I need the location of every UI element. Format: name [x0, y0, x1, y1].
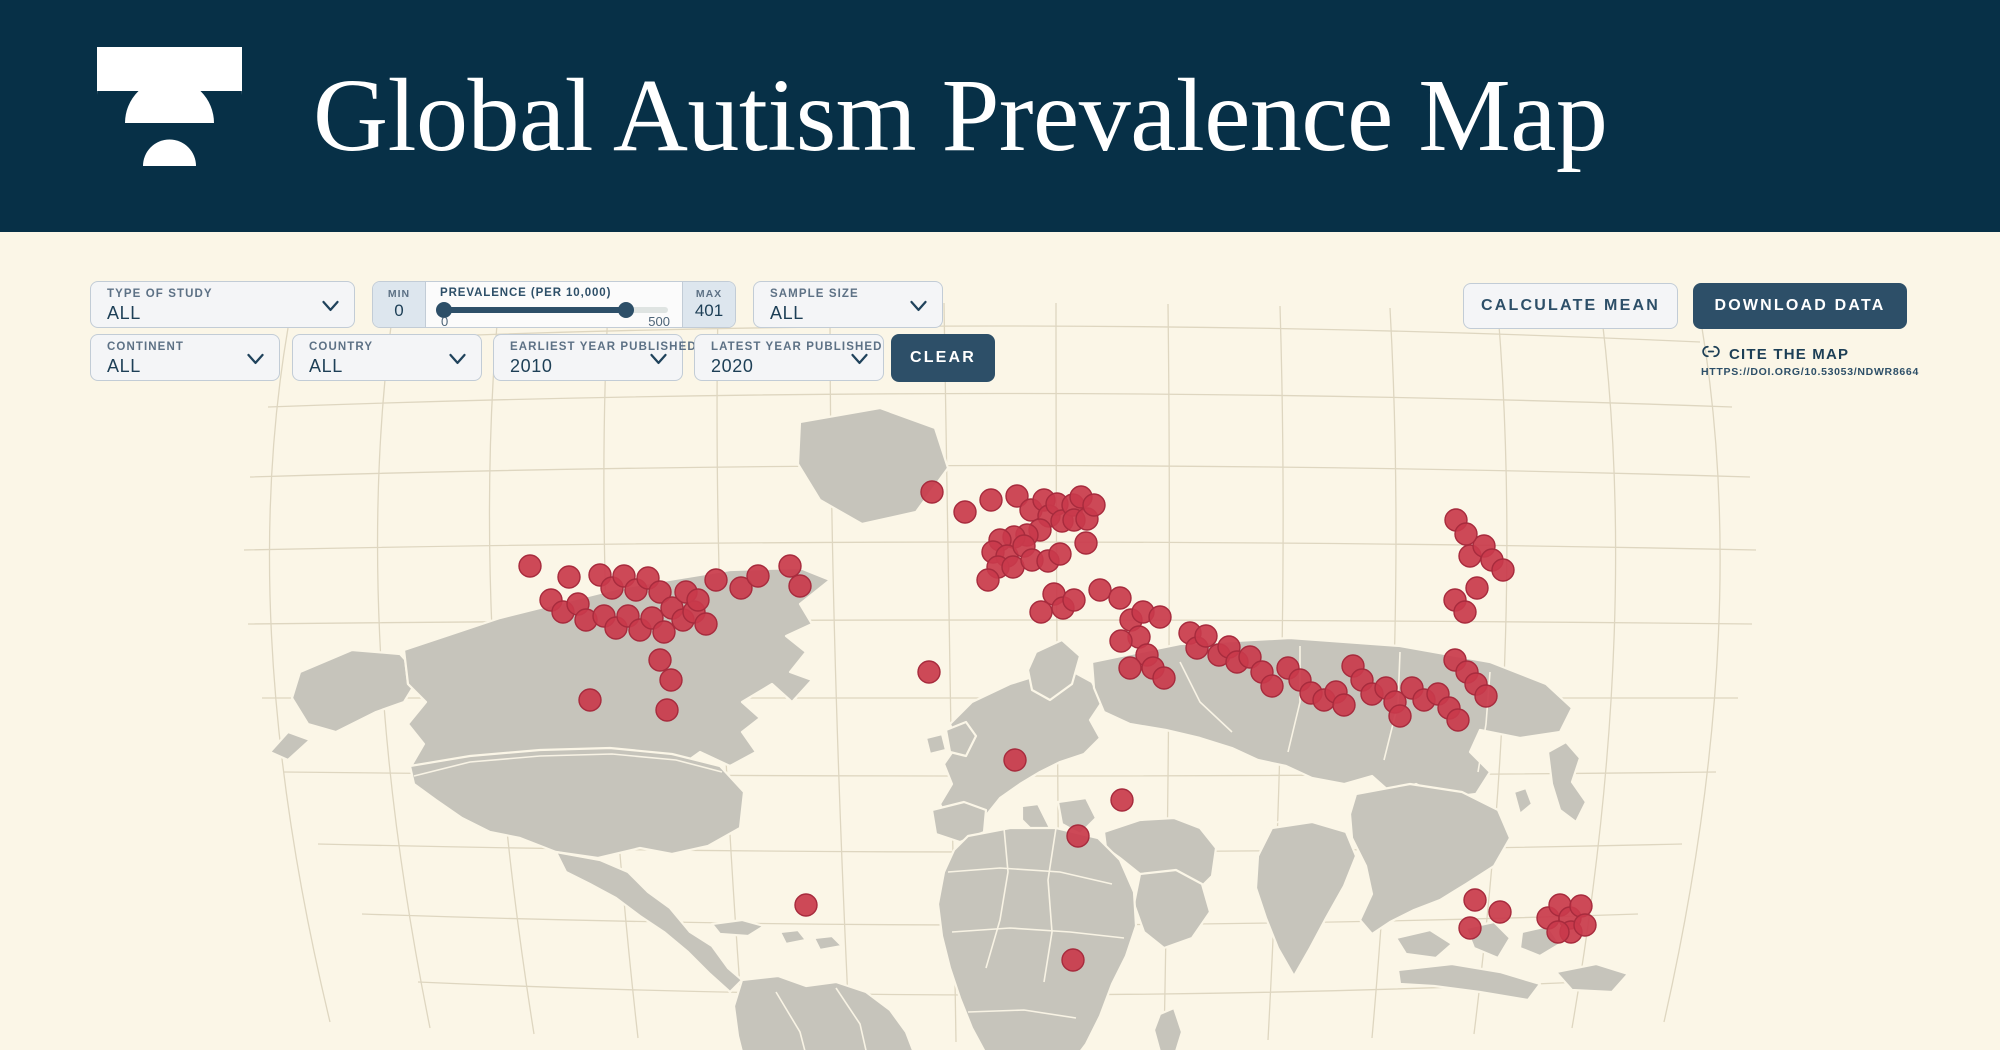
map-marker[interactable] — [649, 649, 671, 671]
map-marker[interactable] — [1153, 667, 1175, 689]
filter-sample-size[interactable]: SAMPLE SIZE ALL — [753, 281, 943, 328]
signal-ripple-logo-icon — [97, 47, 242, 185]
map-marker[interactable] — [1389, 705, 1411, 727]
map-marker[interactable] — [747, 565, 769, 587]
map-marker[interactable] — [954, 501, 976, 523]
map-marker[interactable] — [1466, 577, 1488, 599]
map-marker[interactable] — [1111, 789, 1133, 811]
filter-continent-value: ALL — [107, 356, 141, 377]
map-marker[interactable] — [1195, 625, 1217, 647]
prevalence-min-label: MIN — [388, 288, 410, 300]
map-marker[interactable] — [1049, 543, 1071, 565]
prevalence-min-value: 0 — [394, 301, 403, 321]
slider-fill — [440, 307, 626, 313]
prevalence-slider-title: PREVALENCE (PER 10,000) — [440, 287, 611, 299]
map-marker[interactable] — [1063, 589, 1085, 611]
slider-scale-min: 0 — [441, 314, 448, 328]
map-marker[interactable] — [558, 566, 580, 588]
cite-the-map-label: CITE THE MAP — [1729, 346, 1849, 363]
chevron-down-icon[interactable] — [908, 295, 929, 316]
chevron-down-icon[interactable] — [447, 348, 468, 369]
cite-the-map-doi[interactable]: HTTPS://DOI.ORG/10.53053/NDWR8664 — [1701, 366, 1910, 378]
page-title: Global Autism Prevalence Map — [313, 42, 1607, 190]
chevron-down-icon[interactable] — [849, 348, 870, 369]
filter-country-value: ALL — [309, 356, 343, 377]
map-marker[interactable] — [1475, 685, 1497, 707]
map-marker[interactable] — [1459, 917, 1481, 939]
map-marker[interactable] — [1110, 630, 1132, 652]
map-marker[interactable] — [1489, 901, 1511, 923]
filter-continent[interactable]: CONTINENT ALL — [90, 334, 280, 381]
map-marker[interactable] — [687, 589, 709, 611]
map-marker[interactable] — [789, 575, 811, 597]
map-marker[interactable] — [1109, 587, 1131, 609]
prevalence-max-box[interactable]: MAX 401 — [683, 282, 735, 327]
map-marker[interactable] — [1333, 694, 1355, 716]
map-marker[interactable] — [1119, 657, 1141, 679]
map-marker[interactable] — [1570, 895, 1592, 917]
map-marker[interactable] — [519, 555, 541, 577]
map-marker[interactable] — [705, 569, 727, 591]
map-marker[interactable] — [656, 699, 678, 721]
map-marker[interactable] — [921, 481, 943, 503]
chevron-down-icon[interactable] — [320, 295, 341, 316]
slider-scale-max: 500 — [648, 314, 670, 328]
map-marker[interactable] — [653, 621, 675, 643]
map-marker[interactable] — [1149, 606, 1171, 628]
clear-filters-button[interactable]: CLEAR — [891, 334, 995, 382]
filter-type-of-study-label: TYPE OF STUDY — [107, 288, 213, 300]
map-marker[interactable] — [1083, 494, 1105, 516]
map-marker[interactable] — [1075, 532, 1097, 554]
map-marker[interactable] — [1089, 579, 1111, 601]
chevron-down-icon[interactable] — [648, 348, 669, 369]
filter-latest-year-value: 2020 — [711, 356, 753, 377]
map-marker[interactable] — [1547, 921, 1569, 943]
prevalence-slider[interactable]: PREVALENCE (PER 10,000) 0 500 — [425, 282, 683, 327]
map-marker[interactable] — [660, 669, 682, 691]
map-marker[interactable] — [1004, 749, 1026, 771]
filter-earliest-year[interactable]: EARLIEST YEAR PUBLISHED 2010 — [493, 334, 683, 381]
map-marker[interactable] — [918, 661, 940, 683]
map-marker[interactable] — [977, 569, 999, 591]
map-marker[interactable] — [1030, 601, 1052, 623]
filter-country[interactable]: COUNTRY ALL — [292, 334, 482, 381]
map-marker[interactable] — [1447, 709, 1469, 731]
link-icon — [1700, 345, 1722, 363]
filter-country-label: COUNTRY — [309, 341, 373, 353]
map-marker[interactable] — [795, 894, 817, 916]
chevron-down-icon[interactable] — [245, 348, 266, 369]
map-marker[interactable] — [1261, 675, 1283, 697]
filter-sample-size-value: ALL — [770, 303, 804, 324]
map-marker[interactable] — [1464, 889, 1486, 911]
filter-earliest-year-value: 2010 — [510, 356, 552, 377]
map-marker[interactable] — [1492, 559, 1514, 581]
filter-continent-label: CONTINENT — [107, 341, 184, 353]
prevalence-max-label: MAX — [696, 288, 722, 300]
app-header: Global Autism Prevalence Map — [0, 0, 2000, 232]
map-marker[interactable] — [579, 689, 601, 711]
cite-the-map[interactable]: CITE THE MAP HTTPS://DOI.ORG/10.53053/ND… — [1700, 345, 1910, 378]
prevalence-min-box[interactable]: MIN 0 — [373, 282, 425, 327]
slider-track[interactable] — [440, 307, 668, 313]
map-marker[interactable] — [1062, 949, 1084, 971]
map-marker[interactable] — [1454, 601, 1476, 623]
download-data-button[interactable]: DOWNLOAD DATA — [1693, 283, 1907, 329]
filter-type-of-study[interactable]: TYPE OF STUDY ALL — [90, 281, 355, 328]
slider-handle-max[interactable] — [618, 302, 634, 318]
map-marker[interactable] — [980, 489, 1002, 511]
filter-type-of-study-value: ALL — [107, 303, 141, 324]
map-marker[interactable] — [1574, 914, 1596, 936]
filter-prevalence-range[interactable]: MIN 0 PREVALENCE (PER 10,000) 0 500 MAX … — [372, 281, 736, 328]
map-marker[interactable] — [695, 613, 717, 635]
map-marker[interactable] — [1455, 523, 1477, 545]
calculate-mean-button[interactable]: CALCULATE MEAN — [1463, 283, 1678, 329]
filter-sample-size-label: SAMPLE SIZE — [770, 288, 859, 300]
map-marker[interactable] — [779, 555, 801, 577]
filter-latest-year[interactable]: LATEST YEAR PUBLISHED 2020 — [694, 334, 884, 381]
map-marker[interactable] — [1067, 825, 1089, 847]
prevalence-max-value: 401 — [695, 301, 723, 321]
